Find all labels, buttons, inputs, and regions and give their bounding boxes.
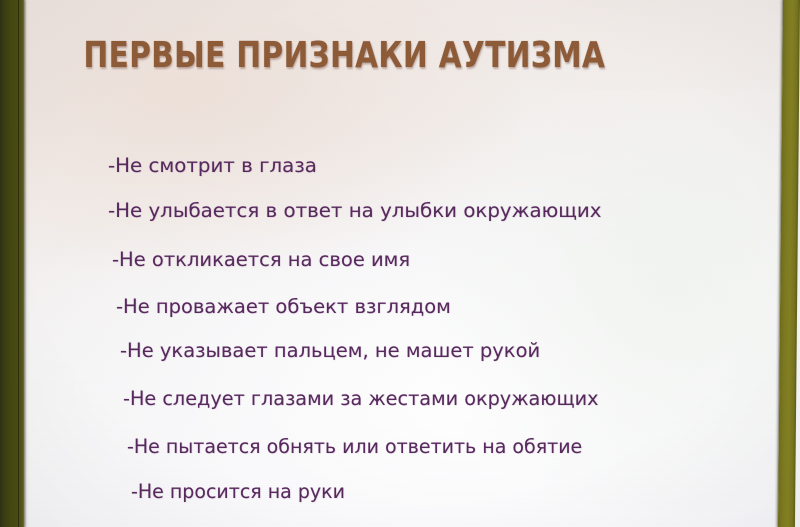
wall-band-left-falloff bbox=[24, 0, 29, 527]
list-item: -Не проважает объект взглядом bbox=[116, 297, 451, 317]
list-item: -Не смотрит в глаза bbox=[108, 156, 317, 176]
list-item: -Не улыбается в ответ на улыбки окружающ… bbox=[108, 201, 601, 221]
slide-bullet-list: -Не смотрит в глаза -Не улыбается в отве… bbox=[24, 0, 784, 527]
wall-band-left bbox=[0, 0, 24, 527]
wall-band-left-seam bbox=[18, 0, 19, 527]
list-item: -Не просится на руки bbox=[131, 482, 345, 501]
slide-content: ПЕРВЫЕ ПРИЗНАКИ АУТИЗМА -Не смотрит в гл… bbox=[24, 0, 784, 527]
list-item: -Не указывает пальцем, не машет рукой bbox=[120, 341, 540, 361]
list-item: -Не откликается на свое имя bbox=[112, 250, 410, 270]
screenshot-root: ПЕРВЫЕ ПРИЗНАКИ АУТИЗМА -Не смотрит в гл… bbox=[0, 0, 800, 527]
list-item: -Не пытается обнять или ответить на обят… bbox=[127, 437, 582, 456]
list-item: -Не следует глазами за жестами окружающи… bbox=[123, 389, 599, 408]
